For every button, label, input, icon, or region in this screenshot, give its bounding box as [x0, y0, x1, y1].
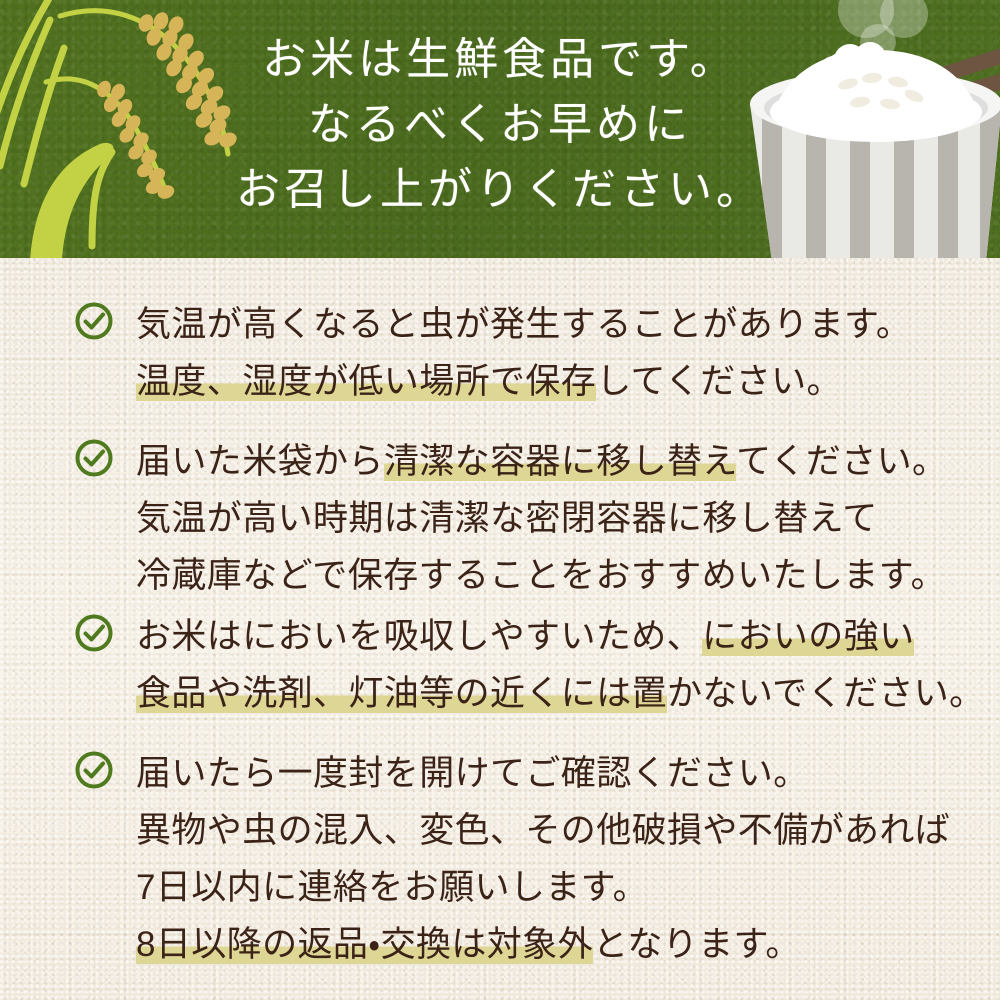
- plain-text: 異物や虫の混入、変色、その他破損や不備があれば: [136, 811, 950, 850]
- rice-in-bowl-icon: [770, 50, 982, 142]
- rice-plant-icon: [0, 0, 264, 258]
- notices-panel: 気温が高くなると虫が発生することがあります。温度、湿度が低い場所で保存してくださ…: [0, 258, 1000, 1000]
- check-circle-icon: [74, 613, 114, 653]
- notice-item: 届いたら一度封を開けてご確認ください。異物や虫の混入、変色、その他破損や不備があ…: [74, 745, 974, 973]
- notice-text: 届いたら一度封を開けてご確認ください。異物や虫の混入、変色、その他破損や不備があ…: [136, 745, 974, 973]
- notice-line: 異物や虫の混入、変色、その他破損や不備があれば: [136, 802, 974, 859]
- notice-line: 届いた米袋から清潔な容器に移し替えてください。: [136, 433, 974, 490]
- notice-line: 温度、湿度が低い場所で保存してください。: [136, 353, 974, 410]
- plain-text: お米はにおいを吸収しやすいため、: [136, 617, 702, 656]
- plain-text: となります。: [593, 925, 801, 964]
- plain-text: 冷蔵庫などで保存することをおすすめいたします。: [136, 556, 946, 595]
- rice-bowl-icon: [748, 0, 1000, 258]
- check-circle-icon: [74, 438, 114, 478]
- notice-text: 気温が高くなると虫が発生することがあります。温度、湿度が低い場所で保存してくださ…: [136, 296, 974, 410]
- notice-item: 気温が高くなると虫が発生することがあります。温度、湿度が低い場所で保存してくださ…: [74, 296, 974, 410]
- plain-text: てください。: [736, 442, 947, 481]
- highlighted-text: においの強い: [702, 617, 914, 656]
- plain-text: 気温が高くなると虫が発生することがあります。: [136, 305, 911, 344]
- plain-text: 気温が高い時期は清潔な密閉容器に移し替えて: [136, 499, 878, 538]
- highlighted-text: 8日以降の返品・交換は対象外: [136, 925, 593, 964]
- check-circle-icon: [74, 750, 114, 790]
- notice-text: お米はにおいを吸収しやすいため、においの強い食品や洗剤、灯油等の近くには置かない…: [136, 608, 974, 722]
- check-circle-icon: [74, 438, 114, 478]
- notice-line: 7日以内に連絡をお願いします。: [136, 859, 974, 916]
- notice-line: 冷蔵庫などで保存することをおすすめいたします。: [136, 547, 974, 604]
- infographic-page: お米は生鮮食品です。 なるべくお早めに お召し上がりください。: [0, 0, 1000, 1000]
- plain-text: 7日以内に連絡をお願いします。: [136, 868, 648, 907]
- check-circle-icon: [74, 301, 114, 341]
- highlighted-text: 温度、湿度が低い場所で保存: [136, 362, 596, 401]
- check-circle-icon: [74, 301, 114, 341]
- notice-line: 8日以降の返品・交換は対象外となります。: [136, 916, 974, 973]
- notice-item: 届いた米袋から清潔な容器に移し替えてください。気温が高い時期は清潔な密閉容器に移…: [74, 433, 974, 604]
- plain-text: 届いたら一度封を開けてご確認ください。: [136, 754, 809, 793]
- check-circle-icon: [74, 613, 114, 653]
- notice-line: 気温が高い時期は清潔な密閉容器に移し替えて: [136, 490, 974, 547]
- plain-text: 届いた米袋から: [136, 442, 384, 481]
- notice-item: お米はにおいを吸収しやすいため、においの強い食品や洗剤、灯油等の近くには置かない…: [74, 608, 974, 722]
- highlighted-text: 清潔な容器に移し替え: [384, 442, 736, 481]
- notice-line: 気温が高くなると虫が発生することがあります。: [136, 296, 974, 353]
- notice-line: お米はにおいを吸収しやすいため、においの強い: [136, 608, 974, 665]
- check-circle-icon: [74, 750, 114, 790]
- header-banner: お米は生鮮食品です。 なるべくお早めに お召し上がりください。: [0, 0, 1000, 258]
- notice-line: 食品や洗剤、灯油等の近くには置かないでください。: [136, 665, 974, 722]
- plain-text: かないでください。: [667, 674, 985, 713]
- notice-text: 届いた米袋から清潔な容器に移し替えてください。気温が高い時期は清潔な密閉容器に移…: [136, 433, 974, 604]
- highlighted-text: 食品や洗剤、灯油等の近くには置: [136, 674, 667, 713]
- notice-line: 届いたら一度封を開けてご確認ください。: [136, 745, 974, 802]
- plain-text: してください。: [596, 362, 842, 401]
